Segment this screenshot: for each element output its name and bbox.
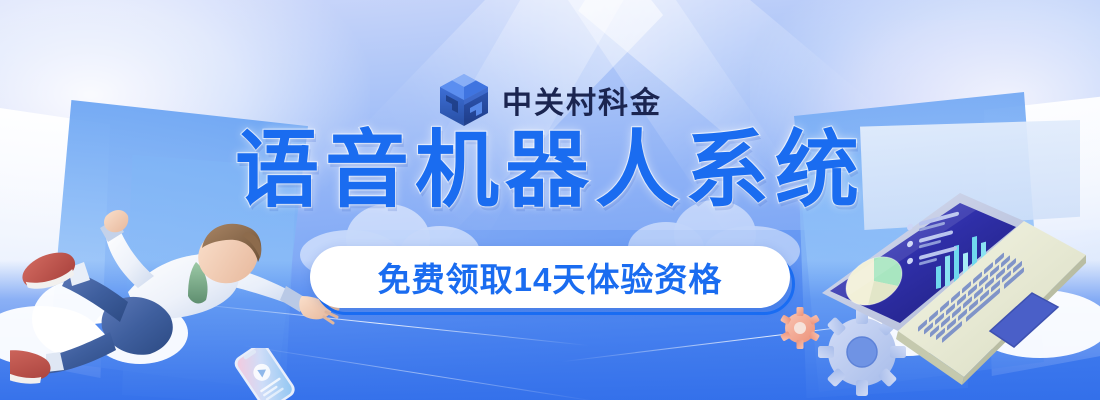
smartphone-illustration bbox=[228, 348, 298, 400]
isometric-cube-logo-icon bbox=[438, 72, 490, 128]
free-trial-button[interactable]: 免费领取14天体验资格 bbox=[310, 246, 790, 308]
brand-lockup: 中关村科金 bbox=[0, 72, 1100, 128]
cta-container: 免费领取14天体验资格 bbox=[0, 246, 1100, 308]
cta-group: 免费领取14天体验资格 bbox=[310, 246, 790, 308]
brand-name: 中关村科金 bbox=[502, 78, 662, 122]
page-title: 语音机器人系统 bbox=[0, 128, 1100, 212]
promo-banner: 中关村科金 语音机器人系统 免费领取14天体验资格 bbox=[0, 0, 1100, 400]
cta-label: 免费领取14天体验资格 bbox=[378, 253, 723, 301]
